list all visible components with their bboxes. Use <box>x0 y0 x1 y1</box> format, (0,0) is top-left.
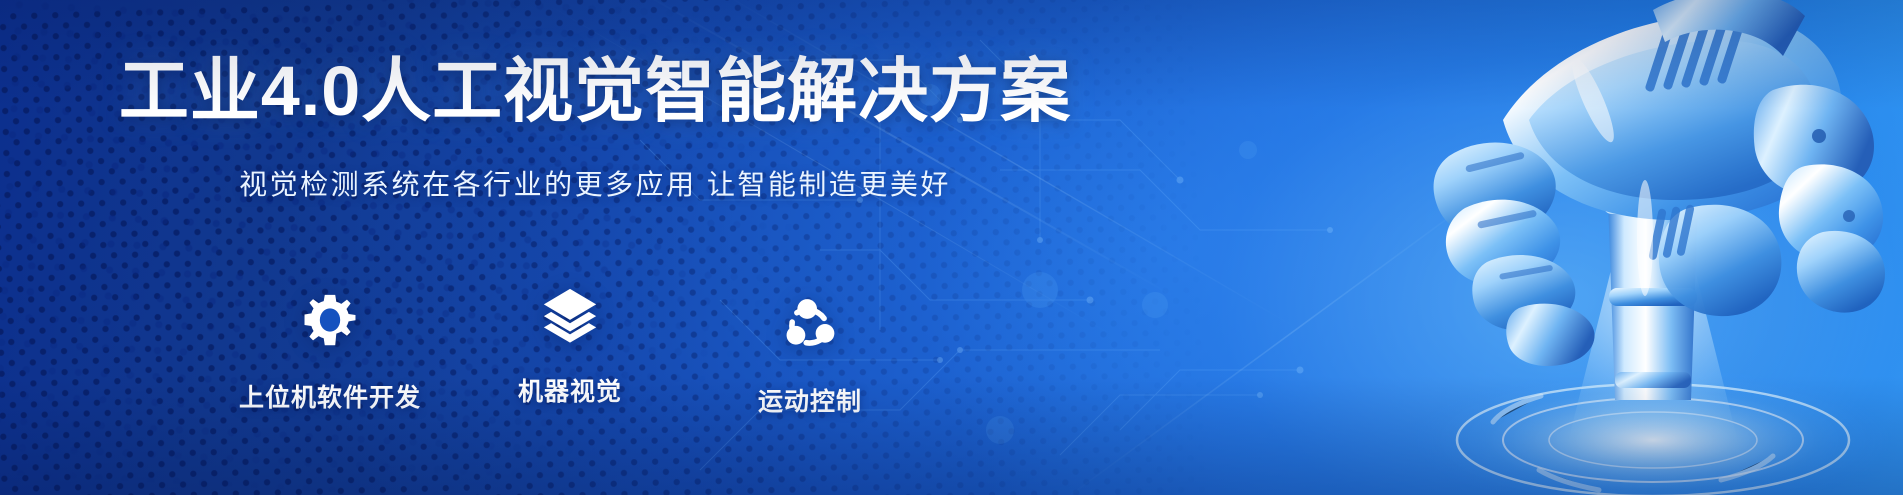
feature-list: 上位机软件开发 机器视觉 <box>240 270 960 418</box>
feature-label: 上位机软件开发 <box>239 378 421 414</box>
feature-label: 运动控制 <box>758 382 862 418</box>
page-subtitle: 视觉检测系统在各行业的更多应用 让智能制造更美好 <box>0 168 1190 202</box>
page-title: 工业4.0人工视觉智能解决方案 <box>0 56 1190 126</box>
feature-item-machine-vision[interactable]: 机器视觉 <box>480 278 660 408</box>
feature-label: 机器视觉 <box>518 372 622 408</box>
hero-banner: 工业4.0人工视觉智能解决方案 视觉检测系统在各行业的更多应用 让智能制造更美好… <box>0 0 1903 495</box>
banner-content: 工业4.0人工视觉智能解决方案 视觉检测系统在各行业的更多应用 让智能制造更美好… <box>0 0 1190 495</box>
layers-icon <box>534 278 606 350</box>
feature-item-software-development[interactable]: 上位机软件开发 <box>240 284 420 414</box>
share-nodes-icon <box>774 288 846 360</box>
gear-icon <box>294 284 366 356</box>
feature-item-motion-control[interactable]: 运动控制 <box>720 288 900 418</box>
robotic-hand-illustration <box>1353 0 1903 495</box>
